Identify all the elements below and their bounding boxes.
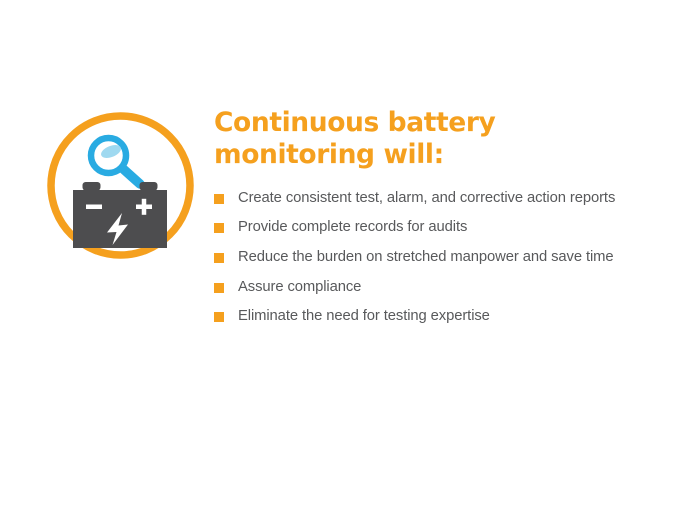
battery-icon (73, 182, 167, 248)
list-item: Eliminate the need for testing expertise (214, 307, 634, 327)
list-item: Create consistent test, alarm, and corre… (214, 189, 634, 209)
bullet-square-icon (214, 194, 224, 204)
content-column: Continuous battery monitoring will: Crea… (214, 107, 634, 327)
bullet-square-icon (214, 223, 224, 233)
minus-symbol-icon (86, 205, 102, 210)
page-title: Continuous battery monitoring will: (214, 107, 634, 171)
list-item-label: Provide complete records for audits (238, 218, 634, 238)
list-item-label: Create consistent test, alarm, and corre… (238, 189, 634, 209)
bullet-square-icon (214, 312, 224, 322)
list-item: Reduce the burden on stretched manpower … (214, 248, 634, 268)
list-item-label: Reduce the burden on stretched manpower … (238, 248, 634, 268)
magnifier-icon (91, 138, 140, 184)
list-item-label: Eliminate the need for testing expertise (238, 307, 634, 327)
slide-canvas: Continuous battery monitoring will: Crea… (0, 0, 692, 514)
benefits-list: Create consistent test, alarm, and corre… (214, 189, 634, 327)
battery-monitoring-icon (47, 112, 194, 259)
bullet-square-icon (214, 283, 224, 293)
list-item-label: Assure compliance (238, 278, 634, 298)
bullet-square-icon (214, 253, 224, 263)
list-item: Assure compliance (214, 278, 634, 298)
list-item: Provide complete records for audits (214, 218, 634, 238)
